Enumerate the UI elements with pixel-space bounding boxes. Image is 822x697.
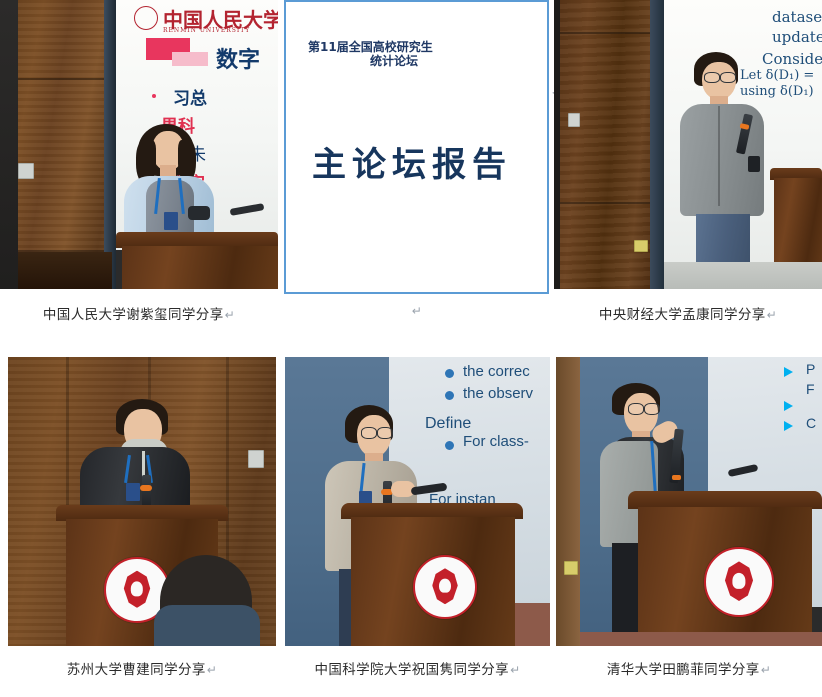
slide-arrow-icon [784, 401, 793, 411]
clicker-device [188, 206, 210, 220]
document-page: 中国人民大学 RENMIN UNIVERSITY 数字 习总 界科 占未 数字 … [0, 0, 822, 697]
photo-caption-4: 苏州大学曹建同学分享↵ [8, 658, 276, 678]
photo-cell-2[interactable]: 第11届全国高校研究生 统计论坛 主论坛报告 ◄ ↵ [284, 0, 549, 294]
glasses-icon [377, 427, 393, 439]
slide-line-4-3: Let δ(D₁) = [740, 68, 814, 83]
photo-image-3: dataset update Consider two Let δ(D₁) = … [554, 0, 822, 289]
slide-title-1: 数字 [216, 42, 260, 74]
photo-image-6: P F C [556, 357, 822, 646]
photo-image-2: 第11届全国高校研究生 统计论坛 主论坛报告 [286, 2, 547, 292]
photo-image-4 [8, 357, 276, 646]
photo-image-5: the correc the observ Define For class- … [285, 357, 550, 646]
wall-edge [0, 0, 18, 289]
slide-line-1-3: dataset [772, 8, 822, 26]
caption-text-3: 中央财经大学孟康同学分享 [599, 307, 766, 323]
glasses-icon [628, 403, 644, 415]
microphone-band [140, 485, 152, 491]
slide-bullet-dot [445, 369, 454, 378]
panel-seam [560, 202, 652, 204]
slide-frame-2: 第11届全国高校研究生 统计论坛 主论坛报告 [284, 0, 549, 294]
slide-arrow-icon [784, 421, 793, 431]
floor [580, 632, 822, 646]
photo-caption-2: ↵ [284, 303, 549, 319]
slide-bullet-dot [152, 94, 156, 98]
university-logo-icon [134, 6, 158, 30]
wall-sign [564, 561, 578, 575]
slide-main-title-2: 主论坛报告 [312, 137, 512, 186]
wall-column [556, 357, 580, 646]
photo-cell-3[interactable]: dataset update Consider two Let δ(D₁) = … [554, 0, 822, 289]
slide-line-3-3: Consider two [762, 50, 822, 68]
glasses-icon [704, 72, 720, 83]
glasses-icon [720, 72, 736, 83]
caption-text-4: 苏州大学曹建同学分享 [67, 662, 206, 678]
clicker-device [748, 156, 760, 172]
jacket-zipper [718, 106, 720, 206]
slide-bullet-2-6: F [806, 381, 815, 397]
slide-line-1-5: the correc [463, 363, 530, 380]
slide-line-4-5: For class- [463, 433, 529, 450]
slide-accent-block [172, 52, 208, 66]
photo-cell-5[interactable]: the correc the observ Define For class- … [285, 357, 550, 646]
speaker-badge [126, 483, 140, 501]
paragraph-mark-icon: ↵ [509, 663, 520, 677]
wall-divider [104, 0, 116, 289]
slide-bullet-1-6: P [806, 361, 815, 377]
panel-seam [560, 32, 652, 34]
wall-outlet [18, 163, 34, 179]
paragraph-mark-icon: ↵ [766, 308, 777, 322]
wall-divider [650, 0, 664, 289]
photo-caption-3: 中央财经大学孟康同学分享↵ [554, 303, 822, 323]
slide-bullet-dot [445, 391, 454, 400]
photo-image-1: 中国人民大学 RENMIN UNIVERSITY 数字 习总 界科 占未 数字 … [0, 0, 278, 289]
paragraph-mark-icon: ↵ [206, 663, 217, 677]
slide-bullet-dot [445, 441, 454, 450]
slide-institution-en-1: RENMIN UNIVERSITY [163, 27, 250, 34]
slide-line-2-3: update [772, 28, 822, 46]
slide-line-3-5: Define [425, 415, 471, 433]
slide-bullet-3-6: C [806, 415, 816, 431]
slide-bullet-1: 习总 [173, 84, 207, 109]
university-emblem-icon [413, 555, 477, 619]
slide-line-5-3: using δ(D₁) [740, 84, 814, 99]
panel-seam [18, 78, 112, 80]
glasses-icon [361, 427, 377, 439]
wall-outlet [248, 450, 264, 468]
floor [664, 262, 822, 289]
floor-shadow [18, 252, 112, 289]
microphone [142, 475, 151, 509]
paragraph-mark-icon: ↵ [224, 308, 235, 322]
glasses-icon [644, 403, 660, 415]
photo-cell-4[interactable]: 苏州大学曹建同学分享↵ [8, 357, 276, 646]
caption-text-5: 中国科学院大学祝国隽同学分享 [314, 662, 509, 678]
wall-sign [634, 240, 648, 252]
photo-caption-1: 中国人民大学谢紫玺同学分享↵ [0, 303, 278, 323]
podium-body [122, 246, 278, 289]
microphone-band [672, 475, 681, 480]
caption-text-6: 清华大学田鹏菲同学分享 [607, 662, 760, 678]
photo-caption-5: 中国科学院大学祝国隽同学分享↵ [285, 658, 550, 678]
wall-outlet [568, 113, 580, 127]
wood-panel [18, 0, 112, 289]
slide-line-2-5: the observ [463, 385, 533, 402]
photo-cell-1[interactable]: 中国人民大学 RENMIN UNIVERSITY 数字 习总 界科 占未 数字 … [0, 0, 278, 289]
caption-text-1: 中国人民大学谢紫玺同学分享 [43, 307, 224, 323]
photo-cell-6[interactable]: P F C 清华大学田鹏菲同学分享↵ [556, 357, 822, 646]
floor [515, 603, 550, 646]
slide-arrow-icon [784, 367, 793, 377]
photo-caption-6: 清华大学田鹏菲同学分享↵ [556, 658, 822, 678]
audience-shoulders [154, 605, 260, 646]
university-emblem-icon [704, 547, 774, 617]
slide-header-line2-2: 统计论坛 [370, 52, 418, 69]
paragraph-mark-icon: ↵ [411, 304, 422, 318]
paragraph-mark-icon: ↵ [760, 663, 771, 677]
speaker-badge [164, 212, 178, 230]
